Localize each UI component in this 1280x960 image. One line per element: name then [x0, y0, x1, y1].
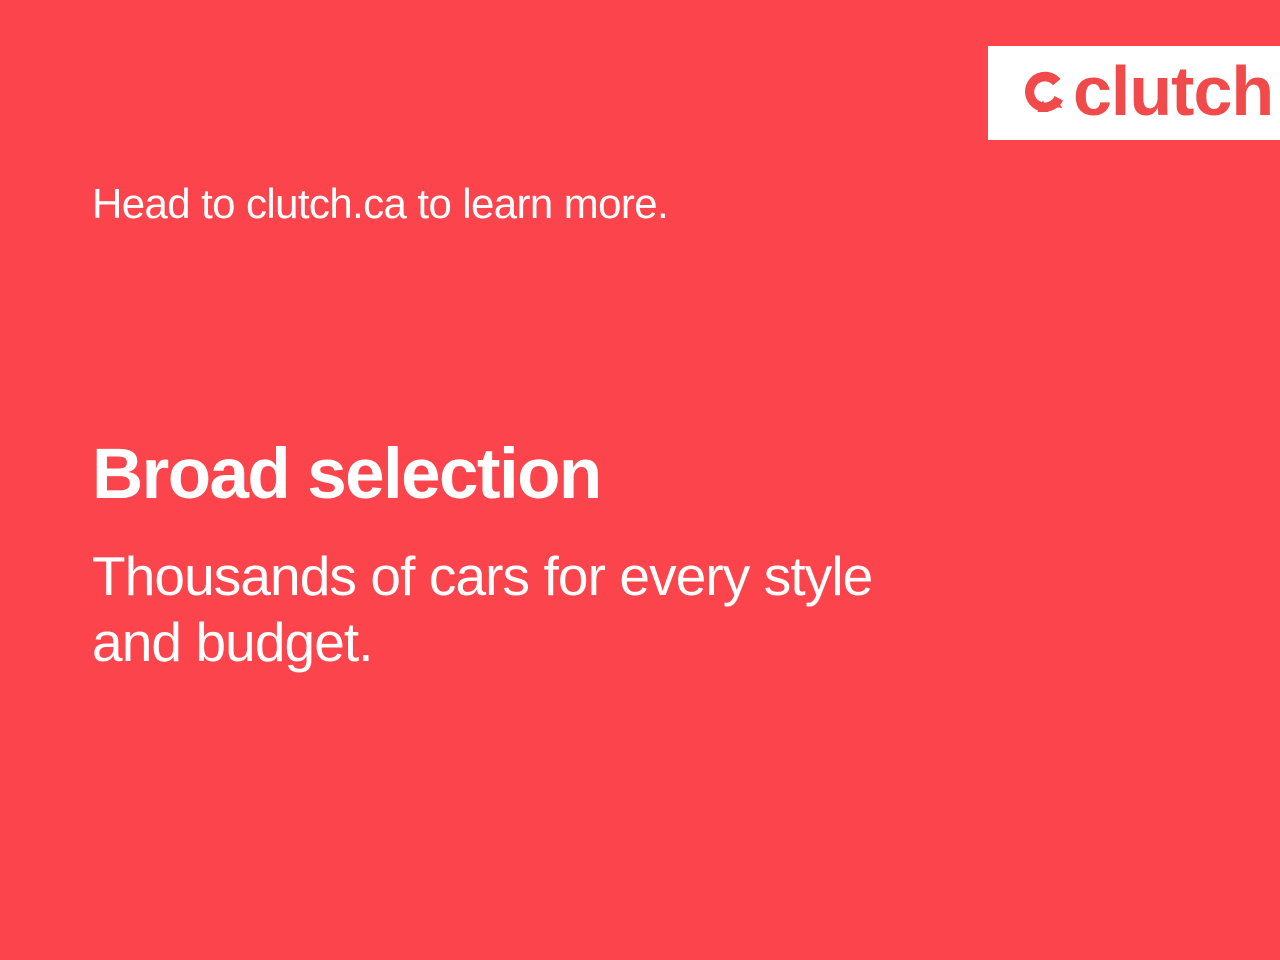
slide-canvas: clutch Head to clutch.ca to learn more. …	[0, 0, 1280, 960]
subheadline-line-2: and budget.	[92, 609, 872, 675]
subheadline: Thousands of cars for every style and bu…	[92, 543, 872, 675]
clutch-c-ring-icon	[1019, 66, 1073, 120]
clutch-wordmark: clutch	[1073, 56, 1273, 126]
eyebrow-text: Head to clutch.ca to learn more.	[92, 180, 668, 228]
clutch-logo-lockup: clutch	[1019, 60, 1273, 126]
subheadline-line-1: Thousands of cars for every style	[92, 543, 872, 609]
page-title: Broad selection	[92, 437, 601, 514]
clutch-logo-plate[interactable]: clutch	[988, 46, 1280, 140]
